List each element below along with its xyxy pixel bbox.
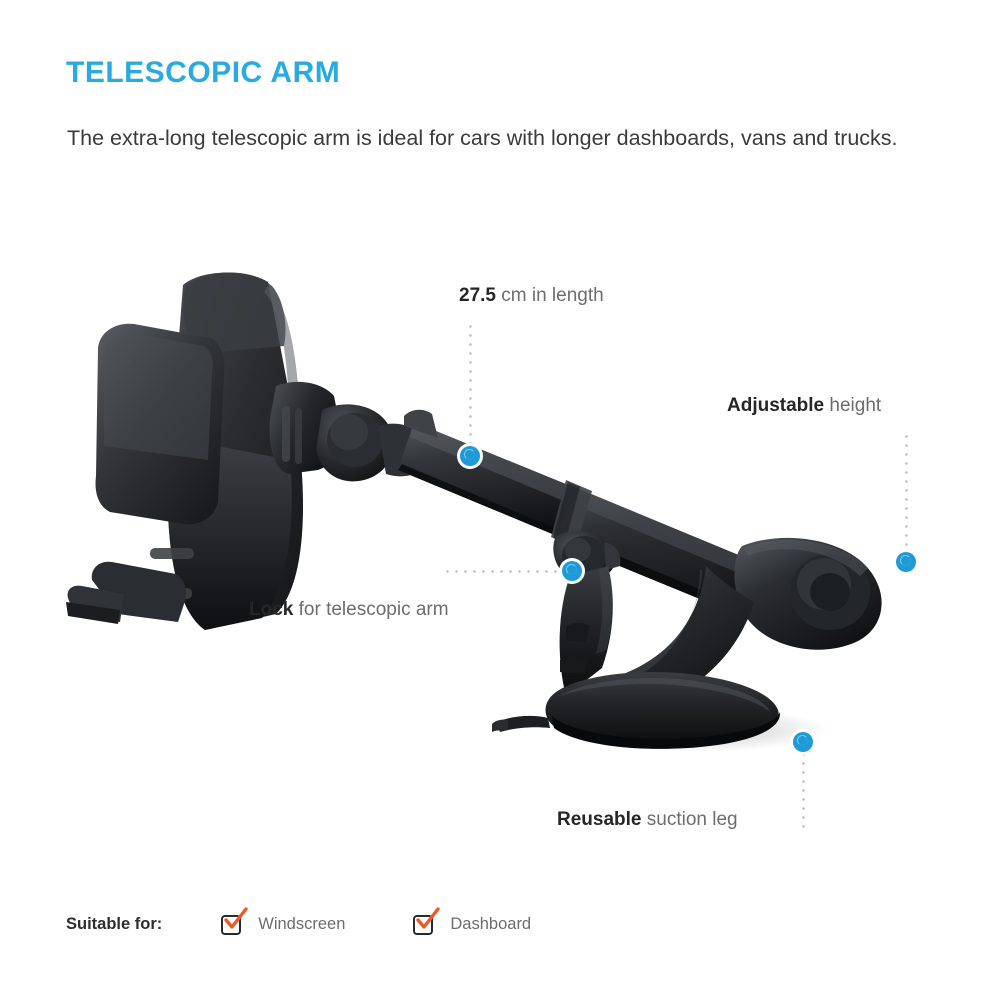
callout-suction-value: Reusable bbox=[557, 809, 641, 830]
telescopic-arm-inner bbox=[398, 410, 600, 548]
callout-lock-value: Lock bbox=[249, 599, 293, 620]
marker-dot-length bbox=[460, 446, 480, 466]
callout-suction-text: suction leg bbox=[641, 809, 737, 830]
checkbox-checked-icon[interactable] bbox=[221, 912, 246, 937]
marker-dot-suction bbox=[793, 732, 813, 752]
suitable-item-dashboard[interactable]: Dashboard bbox=[413, 912, 531, 937]
suitable-for-row: Suitable for: Windscreen Dashboard bbox=[66, 912, 531, 937]
stand-neck bbox=[560, 566, 754, 718]
leader-line-lock bbox=[443, 570, 567, 573]
callout-lock: Lock for telescopic arm bbox=[249, 600, 449, 619]
callout-adjustable-height: Adjustable height bbox=[727, 396, 881, 415]
suitable-item-windscreen-label: Windscreen bbox=[258, 915, 345, 934]
ball-joint bbox=[270, 382, 430, 481]
marker-dot-height bbox=[896, 552, 916, 572]
infographic-page: TELESCOPIC ARM The extra-long telescopic… bbox=[0, 0, 1000, 1000]
suitable-for-label: Suitable for: bbox=[66, 915, 162, 934]
page-subtitle: The extra-long telescopic arm is ideal f… bbox=[67, 122, 957, 154]
page-title: TELESCOPIC ARM bbox=[66, 56, 340, 89]
telescopic-arm-outer bbox=[551, 480, 770, 622]
callout-length: 27.5 cm in length bbox=[459, 286, 604, 305]
callout-suction-leg: Reusable suction leg bbox=[557, 810, 738, 829]
callout-lock-text: for telescopic arm bbox=[293, 599, 448, 620]
checkbox-checked-icon[interactable] bbox=[413, 912, 438, 937]
leader-line-length bbox=[469, 322, 472, 450]
phone-cradle bbox=[66, 273, 303, 631]
callout-length-text: cm in length bbox=[496, 285, 604, 306]
leader-line-height bbox=[905, 432, 908, 556]
callout-length-value: 27.5 bbox=[459, 285, 496, 306]
callout-height-value: Adjustable bbox=[727, 395, 824, 416]
suction-cup-base bbox=[492, 672, 780, 749]
suitable-item-dashboard-label: Dashboard bbox=[450, 915, 531, 934]
leader-line-suction bbox=[802, 750, 805, 828]
marker-dot-lock bbox=[562, 561, 582, 581]
suitable-item-windscreen[interactable]: Windscreen bbox=[221, 912, 345, 937]
callout-height-text: height bbox=[824, 395, 881, 416]
product-image bbox=[0, 230, 1000, 850]
base-pivot bbox=[734, 538, 881, 650]
